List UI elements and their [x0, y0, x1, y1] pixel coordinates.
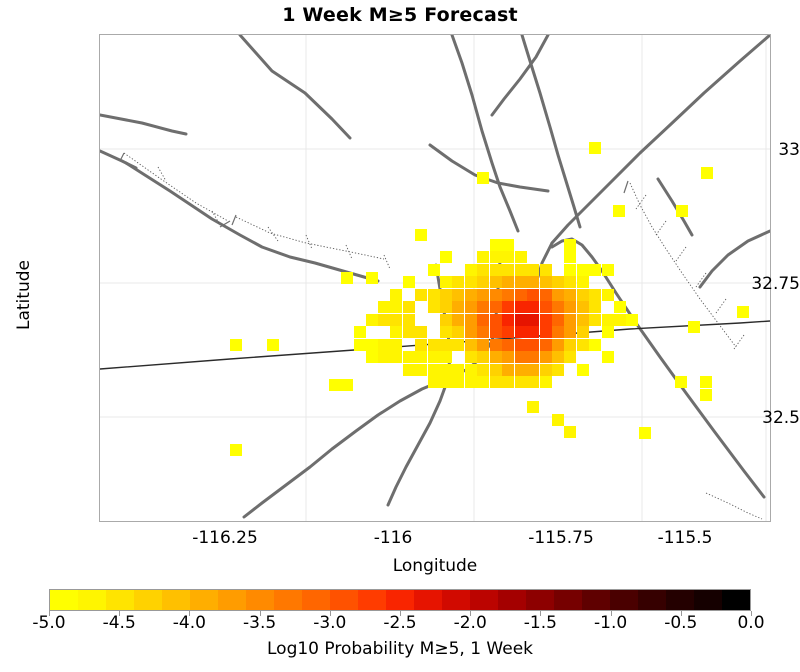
colorbar-swatch: [134, 590, 162, 610]
colorbar-swatch: [582, 590, 610, 610]
probability-cell: [564, 301, 577, 314]
probability-cell: [465, 351, 478, 364]
probability-cell: [527, 289, 540, 302]
colorbar-swatch: [498, 590, 526, 610]
xtick-label-1155: -115.5: [625, 528, 745, 548]
probability-cell: [614, 314, 627, 327]
probability-cell: [390, 339, 403, 352]
probability-cell: [502, 314, 515, 327]
xtick-label-11575: -115.75: [501, 528, 621, 548]
probability-cell: [490, 376, 503, 389]
probability-cell: [700, 376, 713, 389]
ytick-label-33: 33: [708, 140, 800, 160]
colorbar-swatch: [358, 590, 386, 610]
probability-cell: [354, 339, 367, 352]
probability-cell: [465, 376, 478, 389]
probability-cell: [589, 339, 602, 352]
probability-cell: [390, 301, 403, 314]
probability-cell: [415, 351, 428, 364]
probability-cell: [490, 276, 503, 289]
probability-cell: [477, 326, 490, 339]
colorbar-swatch: [50, 590, 78, 610]
probability-cell: [502, 289, 515, 302]
probability-cell: [602, 351, 615, 364]
probability-cell: [502, 264, 515, 277]
probability-cell: [477, 364, 490, 377]
probability-cell: [515, 376, 528, 389]
probability-cell: [415, 289, 428, 302]
probability-cell: [540, 289, 553, 302]
probability-cell: [390, 351, 403, 364]
probability-cell: [502, 351, 515, 364]
probability-cell: [477, 339, 490, 352]
colorbar-tick-label: 0.0: [706, 613, 796, 633]
probability-cell: [477, 351, 490, 364]
colorbar-swatch: [218, 590, 246, 610]
probability-cell: [564, 339, 577, 352]
colorbar-swatch: [414, 590, 442, 610]
probability-cell: [490, 264, 503, 277]
probability-cell: [540, 264, 553, 277]
colorbar-swatch: [190, 590, 218, 610]
probability-cell: [415, 364, 428, 377]
probability-cell: [490, 314, 503, 327]
probability-cell: [230, 444, 243, 457]
colorbar-swatch: [526, 590, 554, 610]
probability-cell: [378, 351, 391, 364]
probability-cell: [490, 326, 503, 339]
probability-cell: [564, 239, 577, 252]
probability-cell: [602, 314, 615, 327]
probability-cell: [440, 289, 453, 302]
xtick-label-11625: -116.25: [165, 528, 285, 548]
probability-cell: [378, 314, 391, 327]
probability-cell: [540, 301, 553, 314]
probability-cell: [490, 351, 503, 364]
probability-cell: [527, 339, 540, 352]
probability-cell: [527, 264, 540, 277]
probability-cell: [502, 276, 515, 289]
probability-cell: [366, 272, 379, 285]
probability-cell: [452, 314, 465, 327]
colorbar-swatch: [106, 590, 134, 610]
probability-cell: [403, 301, 416, 314]
probability-cell: [502, 364, 515, 377]
probability-cell: [589, 264, 602, 277]
probability-cell: [428, 301, 441, 314]
probability-cell: [552, 301, 565, 314]
probability-cell: [477, 251, 490, 264]
probability-cell: [564, 314, 577, 327]
probability-cell: [540, 276, 553, 289]
probability-cell: [378, 301, 391, 314]
colorbar-swatch: [694, 590, 722, 610]
probability-cell: [390, 314, 403, 327]
probability-cell: [477, 276, 490, 289]
colorbar-swatch: [274, 590, 302, 610]
probability-cell: [639, 427, 652, 440]
probability-cell: [540, 314, 553, 327]
probability-cell: [700, 389, 713, 402]
probability-cell: [564, 326, 577, 339]
probability-cell: [490, 251, 503, 264]
colorbar-swatch: [330, 590, 358, 610]
probability-cell: [465, 289, 478, 302]
probability-cell: [465, 339, 478, 352]
probability-cell: [329, 379, 342, 392]
probability-cell: [527, 314, 540, 327]
probability-cell: [552, 364, 565, 377]
probability-cell: [540, 339, 553, 352]
probability-cell: [688, 321, 701, 334]
ytick-label-325: 32.5: [708, 408, 800, 428]
probability-cell: [552, 276, 565, 289]
probability-cell: [577, 289, 590, 302]
probability-cell: [415, 339, 428, 352]
probability-cell: [354, 326, 367, 339]
probability-cell: [440, 276, 453, 289]
probability-cell: [428, 289, 441, 302]
probability-cell: [452, 364, 465, 377]
probability-cell: [477, 301, 490, 314]
probability-cell: [415, 326, 428, 339]
probability-cell: [341, 272, 354, 285]
probability-cell: [515, 339, 528, 352]
probability-cell: [676, 205, 689, 218]
probability-cell: [440, 326, 453, 339]
probability-cell: [465, 301, 478, 314]
probability-cell: [390, 289, 403, 302]
probability-cell: [564, 426, 577, 439]
colorbar[interactable]: [49, 589, 751, 611]
probability-cell: [415, 229, 428, 242]
probability-cell: [465, 326, 478, 339]
colorbar-swatch: [162, 590, 190, 610]
colorbar-swatch: [666, 590, 694, 610]
colorbar-swatch: [554, 590, 582, 610]
colorbar-swatch: [722, 590, 750, 610]
probability-cell: [589, 289, 602, 302]
probability-cell: [452, 301, 465, 314]
probability-cell: [515, 351, 528, 364]
probability-cell: [552, 351, 565, 364]
probability-cell: [527, 326, 540, 339]
probability-cell: [366, 351, 379, 364]
probability-cell: [428, 351, 441, 364]
probability-cell: [589, 301, 602, 314]
probability-cell: [490, 239, 503, 252]
probability-cell: [403, 351, 416, 364]
probability-cell: [490, 339, 503, 352]
probability-cell: [577, 339, 590, 352]
probability-cell: [577, 276, 590, 289]
probability-cell: [230, 339, 243, 352]
probability-cell: [552, 414, 565, 427]
probability-cell: [527, 301, 540, 314]
probability-cell: [440, 364, 453, 377]
probability-cell: [465, 264, 478, 277]
probability-cell: [477, 376, 490, 389]
probability-cell: [465, 276, 478, 289]
probability-cell: [452, 339, 465, 352]
probability-cell: [515, 326, 528, 339]
colorbar-swatch: [470, 590, 498, 610]
probability-cell: [589, 142, 602, 155]
colorbar-swatch: [442, 590, 470, 610]
colorbar-swatch: [78, 590, 106, 610]
probability-cell: [515, 314, 528, 327]
probability-cell: [577, 326, 590, 339]
figure-canvas: 1 Week M≥5 Forecast: [0, 0, 800, 672]
probability-cell: [552, 289, 565, 302]
probability-cell: [502, 239, 515, 252]
probability-cell: [737, 306, 750, 319]
probability-cell: [540, 364, 553, 377]
probability-cell: [515, 301, 528, 314]
probability-cell: [602, 289, 615, 302]
probability-cell: [452, 326, 465, 339]
xtick-label-116: -116: [333, 528, 453, 548]
probability-cell: [477, 289, 490, 302]
probability-cell: [540, 376, 553, 389]
colorbar-swatch: [386, 590, 414, 610]
probability-cell: [540, 326, 553, 339]
probability-cell: [440, 376, 453, 389]
colorbar-label: Log10 Probability M≥5, 1 Week: [0, 639, 800, 659]
probability-cell: [602, 326, 615, 339]
probability-cell: [452, 376, 465, 389]
probability-cell: [602, 264, 615, 277]
probability-cell: [403, 314, 416, 327]
probability-cell: [490, 301, 503, 314]
probability-cell: [577, 314, 590, 327]
probability-cell: [527, 351, 540, 364]
probability-cell: [428, 264, 441, 277]
probability-cell: [403, 364, 416, 377]
probability-cell: [552, 314, 565, 327]
map-plot-area[interactable]: [99, 34, 771, 522]
colorbar-swatch: [302, 590, 330, 610]
ytick-label-3275: 32.75: [708, 274, 800, 294]
probability-cell: [552, 326, 565, 339]
probability-cell: [366, 339, 379, 352]
probability-cell: [515, 251, 528, 264]
probability-cell: [440, 251, 453, 264]
probability-cell: [540, 351, 553, 364]
probability-cell: [490, 364, 503, 377]
probability-cell: [564, 264, 577, 277]
probability-cell: [502, 339, 515, 352]
probability-cell: [428, 339, 441, 352]
probability-cell: [477, 172, 490, 185]
probability-cell: [552, 339, 565, 352]
probability-cell: [515, 289, 528, 302]
y-axis-label: Latitude: [14, 260, 34, 330]
probability-cell: [465, 314, 478, 327]
probability-cell: [452, 276, 465, 289]
probability-cell: [577, 301, 590, 314]
colorbar-swatch: [246, 590, 274, 610]
probability-cell: [502, 251, 515, 264]
probability-cell: [403, 276, 416, 289]
probability-cell: [701, 167, 714, 180]
colorbar-swatch: [610, 590, 638, 610]
probability-cell: [267, 339, 280, 352]
probability-cell: [440, 314, 453, 327]
probability-cell: [527, 276, 540, 289]
probability-cell: [502, 326, 515, 339]
probability-cell: [527, 376, 540, 389]
probability-cell: [440, 301, 453, 314]
probability-cell: [577, 264, 590, 277]
probability-cell: [515, 276, 528, 289]
probability-cell: [428, 364, 441, 377]
probability-cell: [564, 351, 577, 364]
probability-cell: [490, 289, 503, 302]
probability-cell: [626, 314, 639, 327]
probability-cell: [515, 364, 528, 377]
probability-cell: [390, 326, 403, 339]
probability-cell: [440, 351, 453, 364]
probability-cell: [564, 251, 577, 264]
probability-cell: [577, 364, 590, 377]
probability-cell: [613, 205, 626, 218]
probability-cell: [428, 376, 441, 389]
probability-cell: [440, 339, 453, 352]
chart-title: 1 Week M≥5 Forecast: [0, 4, 800, 26]
probability-cell: [477, 314, 490, 327]
probability-cell: [515, 264, 528, 277]
probability-cell: [675, 376, 688, 389]
probability-cell: [527, 401, 540, 414]
probability-cell: [452, 289, 465, 302]
probability-cell: [366, 314, 379, 327]
probability-cell: [564, 289, 577, 302]
probability-cell: [502, 301, 515, 314]
probability-cell: [378, 339, 391, 352]
x-axis-label: Longitude: [99, 556, 771, 576]
probability-cell: [527, 364, 540, 377]
probability-cell: [589, 314, 602, 327]
probability-cell: [614, 301, 627, 314]
probability-cell: [564, 276, 577, 289]
probability-cell: [403, 326, 416, 339]
colorbar-swatch: [638, 590, 666, 610]
probability-cell: [341, 379, 354, 392]
probability-cell: [502, 376, 515, 389]
probability-cell: [465, 364, 478, 377]
probability-grid-cells: [100, 35, 770, 521]
probability-cell: [477, 264, 490, 277]
